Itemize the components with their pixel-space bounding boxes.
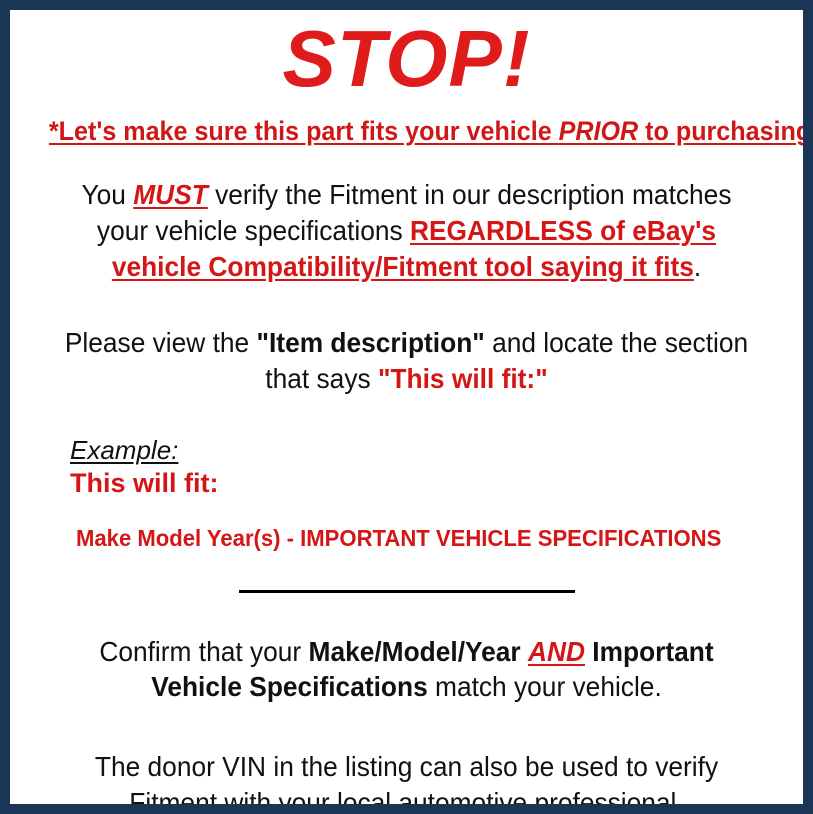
must-emphasis: MUST <box>133 179 208 210</box>
example-label-row: Example: <box>70 435 791 466</box>
donor-vin-paragraph: The donor VIN in the listing can also be… <box>45 749 768 814</box>
must-verify-paragraph: You MUST verify the Fitment in our descr… <box>45 177 768 284</box>
section-divider <box>239 590 575 593</box>
view-text-part1: Please view the <box>65 327 257 358</box>
item-description-emphasis: "Item description" <box>257 327 485 358</box>
and-emphasis: AND <box>528 636 585 667</box>
subtitle-suffix: to purchasing* <box>638 116 813 146</box>
stop-headline: STOP! <box>22 10 791 102</box>
must-text-part1: You <box>81 179 133 210</box>
divider-wrap <box>22 580 791 598</box>
must-text-part3: . <box>694 251 701 282</box>
fitment-notice-card: STOP! *Let's make sure this part fits yo… <box>0 0 813 814</box>
view-description-paragraph: Please view the "Item description" and l… <box>45 325 768 397</box>
subtitle-emphasis-prior: PRIOR <box>559 116 639 146</box>
notice-content: STOP! *Let's make sure this part fits yo… <box>10 10 803 804</box>
make-model-year-emphasis: Make/Model/Year <box>309 636 521 667</box>
this-will-fit-emphasis: "This will fit:" <box>378 363 548 394</box>
subtitle-banner: *Let's make sure this part fits your veh… <box>49 116 764 147</box>
confirm-text-part2: match your vehicle. <box>428 671 662 702</box>
example-fit-heading: This will fit: <box>70 468 791 499</box>
confirm-paragraph: Confirm that your Make/Model/Year AND Im… <box>45 634 768 706</box>
confirm-space-1 <box>521 636 528 667</box>
example-spec-line: Make Model Year(s) - IMPORTANT VEHICLE S… <box>76 525 762 552</box>
subtitle-prefix: *Let's make sure this part fits your veh… <box>49 116 559 146</box>
confirm-text-part1: Confirm that your <box>99 636 308 667</box>
example-block: Example: This will fit: Make Model Year(… <box>22 435 791 552</box>
example-label: Example: <box>70 435 178 466</box>
